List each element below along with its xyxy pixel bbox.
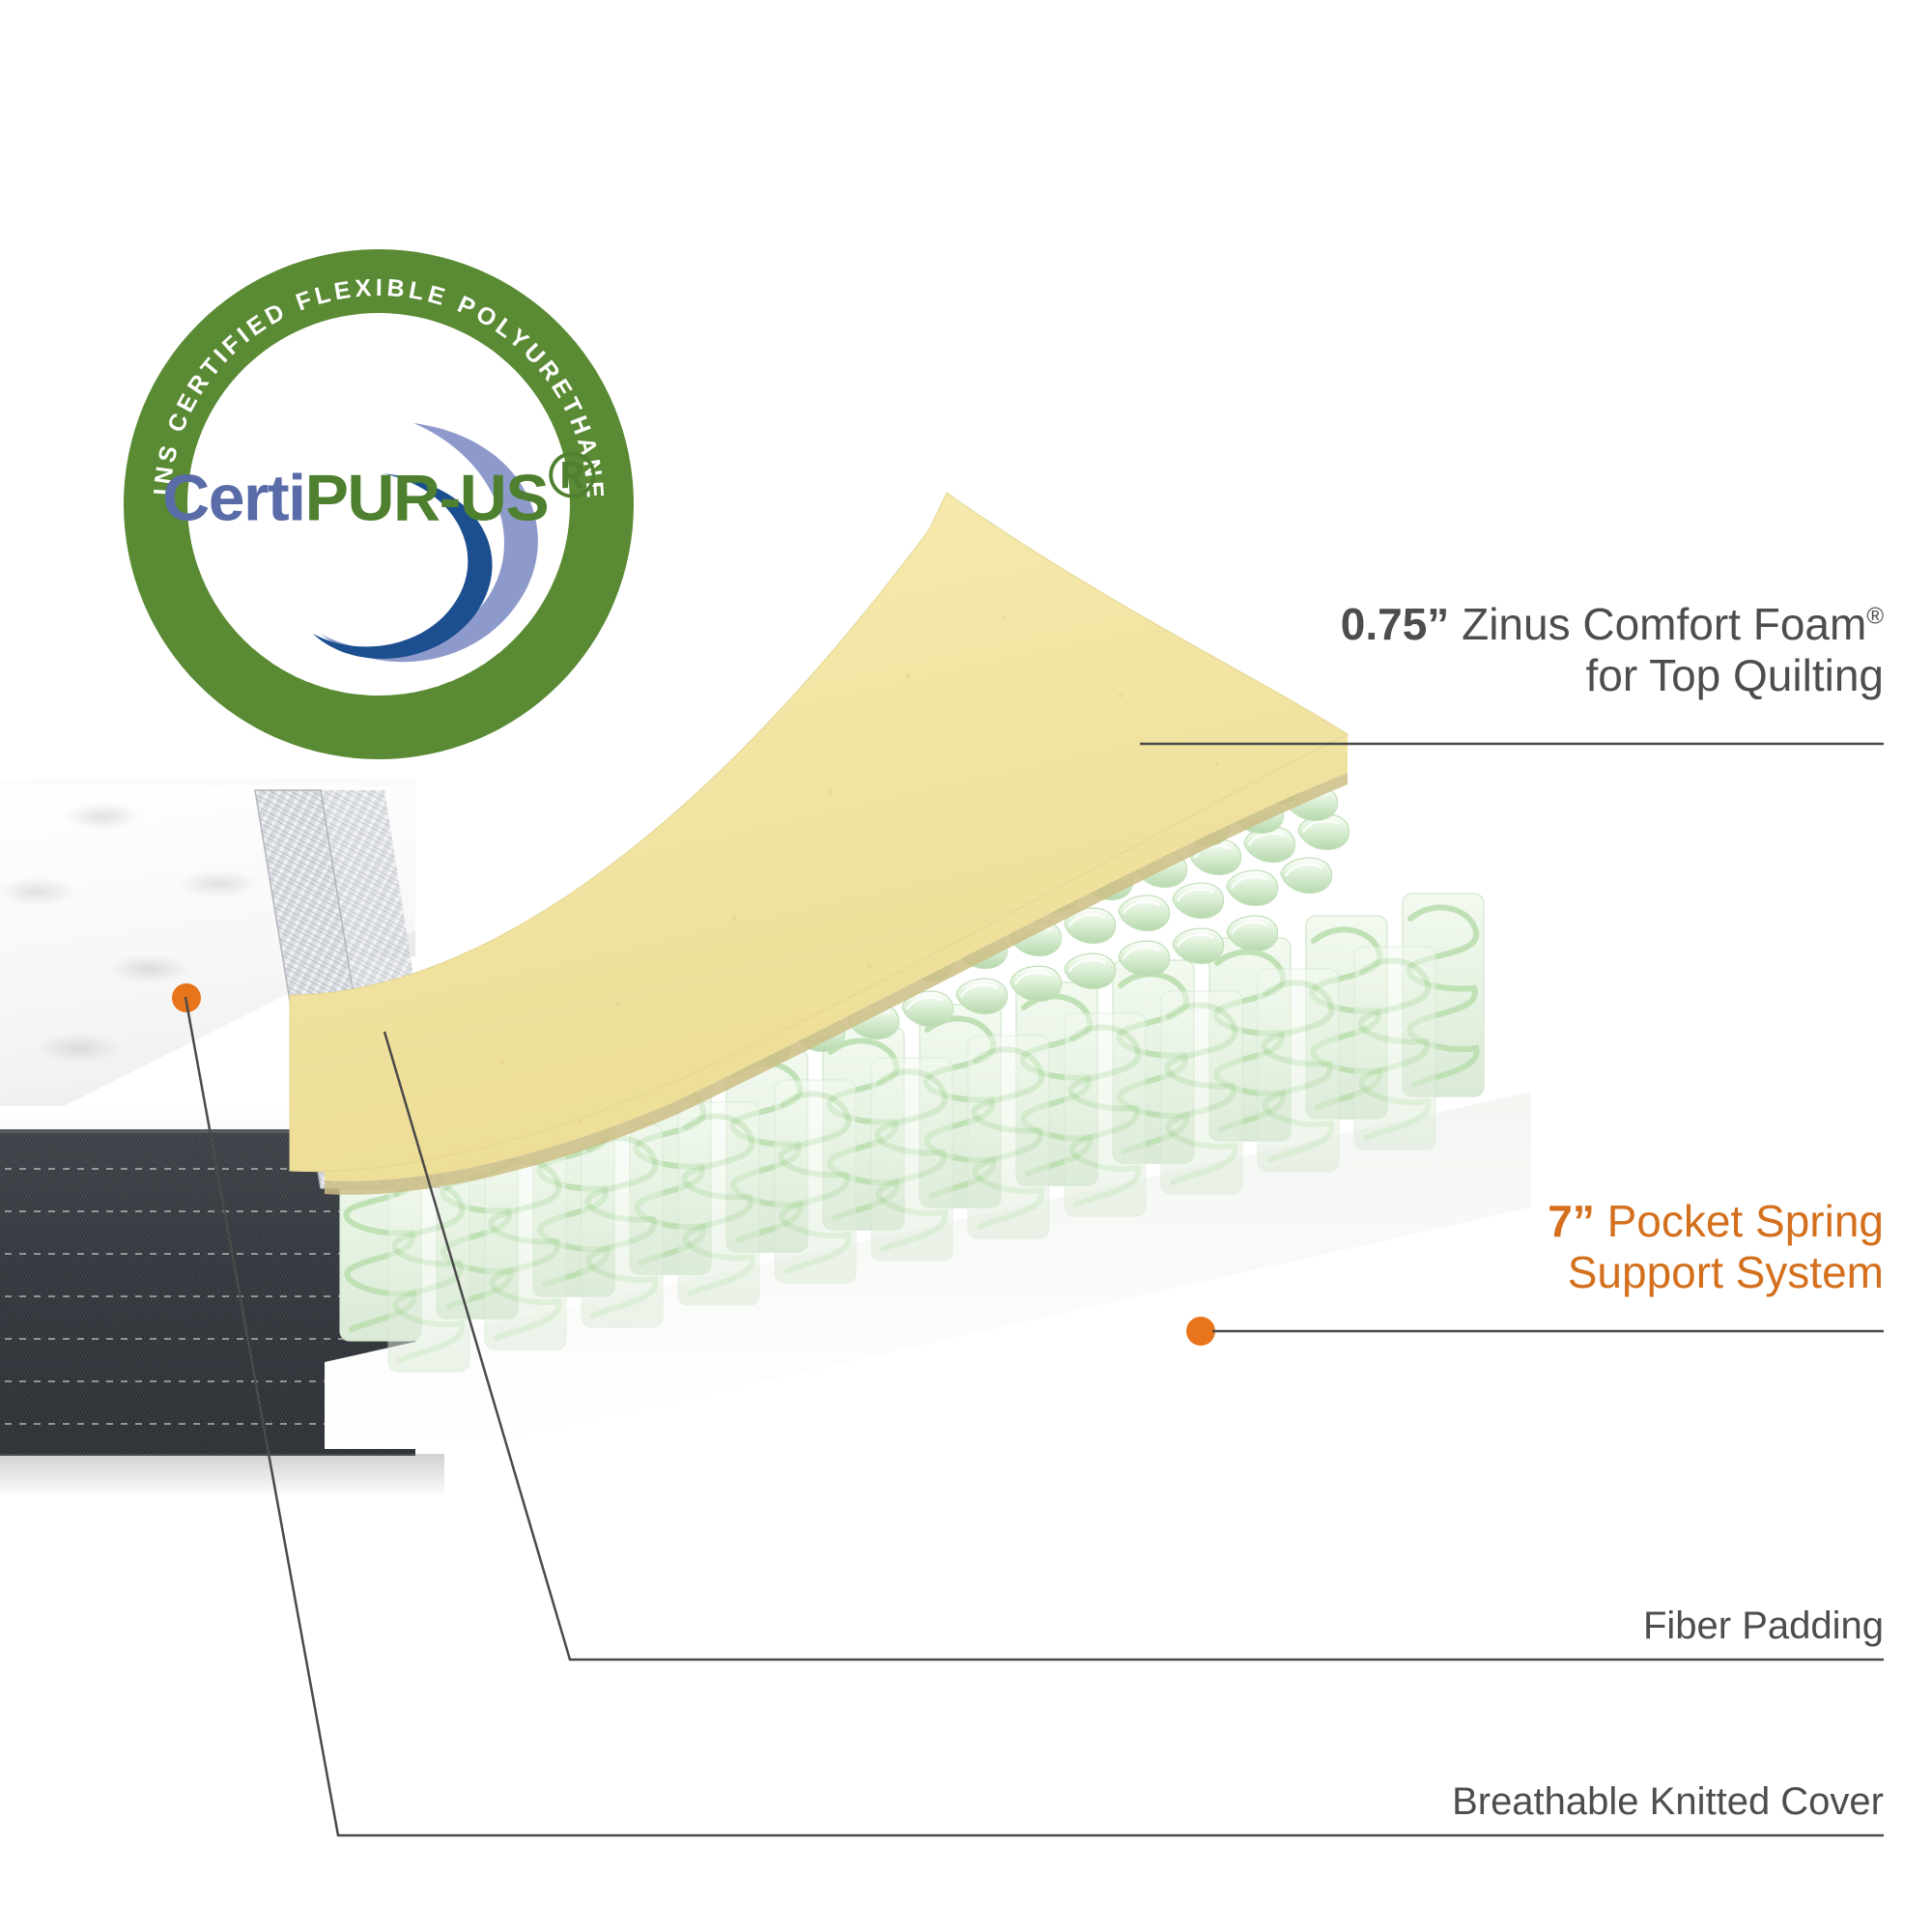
leader-line-fiber-padding: [384, 1032, 1884, 1660]
side-stitch-line: [0, 1168, 415, 1170]
spring-top-surface: [415, 767, 1350, 1139]
callout-label-pocket-spring: 7” Pocket Spring Support System: [1548, 1196, 1884, 1299]
badge-wordmark-certi: Certi: [162, 462, 304, 535]
side-stitch-line: [0, 1253, 415, 1255]
charcoal-side-panel: [0, 1133, 415, 1456]
comfort-foam-name: Zinus Comfort Foam: [1449, 599, 1866, 649]
side-stitch-line: [0, 1423, 415, 1425]
badge-wordmark: CertiPUR-US®: [124, 232, 634, 742]
callout-label-knitted-cover: Breathable Knitted Cover: [1452, 1779, 1884, 1824]
badge-registered-mark: ®: [548, 439, 595, 512]
callout-dot-knitted-cover[interactable]: [172, 983, 201, 1012]
side-stitch-line: [0, 1210, 415, 1212]
side-stitch-line: [0, 1338, 415, 1340]
mattress-body: [0, 778, 415, 1570]
badge-wordmark-pur: PUR-US: [305, 462, 549, 535]
spring-second-row: [388, 947, 1435, 1372]
product-diagram-canvas: CONTAINS CERTIFIED FLEXIBLE POLYURETHANE…: [0, 0, 1932, 1932]
callout-label-fiber-padding: Fiber Padding: [1643, 1604, 1884, 1648]
comfort-foam-registered-mark: ®: [1866, 604, 1884, 630]
mattress-drop-shadow: [0, 1454, 444, 1498]
pocket-spring-line1: 7” Pocket Spring: [1548, 1196, 1884, 1247]
spring-front-row: [340, 894, 1484, 1341]
pocket-spring-line2: Support System: [1548, 1247, 1884, 1298]
comfort-foam-line1: 0.75” Zinus Comfort Foam®: [1341, 599, 1884, 650]
callout-dot-fiber-padding[interactable]: [371, 1018, 400, 1047]
certipur-us-badge: CONTAINS CERTIFIED FLEXIBLE POLYURETHANE…: [124, 249, 634, 759]
leader-line-knitted-cover: [185, 997, 1884, 1835]
callout-dot-pocket-spring[interactable]: [1186, 1317, 1215, 1346]
pocket-spring-thickness: 7”: [1548, 1196, 1595, 1246]
callout-label-comfort-foam: 0.75” Zinus Comfort Foam® for Top Quilti…: [1341, 599, 1884, 702]
comfort-foam-line2: for Top Quilting: [1341, 650, 1884, 701]
side-stitch-line: [0, 1295, 415, 1297]
pocket-spring-name: Pocket Spring: [1595, 1196, 1884, 1246]
quilted-cover-surface: [0, 785, 415, 1152]
comfort-foam-thickness: 0.75”: [1341, 599, 1450, 649]
callout-dot-comfort-foam[interactable]: [1121, 729, 1150, 758]
side-stitch-line: [0, 1380, 415, 1382]
